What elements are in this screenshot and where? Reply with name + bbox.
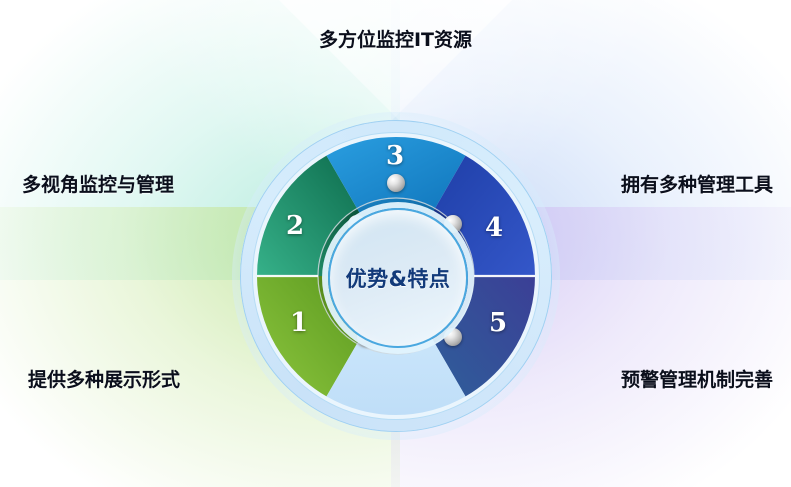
radial-wheel: 1 2 3 4 5 优势&特点 (232, 112, 560, 440)
label-top: 多方位监控IT资源 (0, 25, 791, 52)
label-right-bottom: 预警管理机制完善 (621, 365, 773, 392)
center-label: 优势&特点 (346, 263, 451, 293)
label-left-top: 多视角监控与管理 (22, 170, 174, 197)
segment-number-2: 2 (286, 213, 304, 239)
segment-number-1: 1 (290, 310, 308, 336)
label-right-top: 拥有多种管理工具 (621, 170, 773, 197)
label-left-bottom: 提供多种展示形式 (28, 365, 180, 392)
node-marker-5[interactable] (444, 328, 462, 346)
segment-number-4: 4 (485, 215, 503, 241)
diagram-canvas: 1 2 3 4 5 优势&特点 多方位监控IT资源 多视角监控与管理 提供多种展… (0, 0, 791, 487)
segment-number-5: 5 (489, 310, 507, 336)
center-disc[interactable]: 优势&特点 (328, 208, 468, 348)
segment-number-3: 3 (386, 143, 404, 169)
node-marker-3[interactable] (387, 174, 405, 192)
